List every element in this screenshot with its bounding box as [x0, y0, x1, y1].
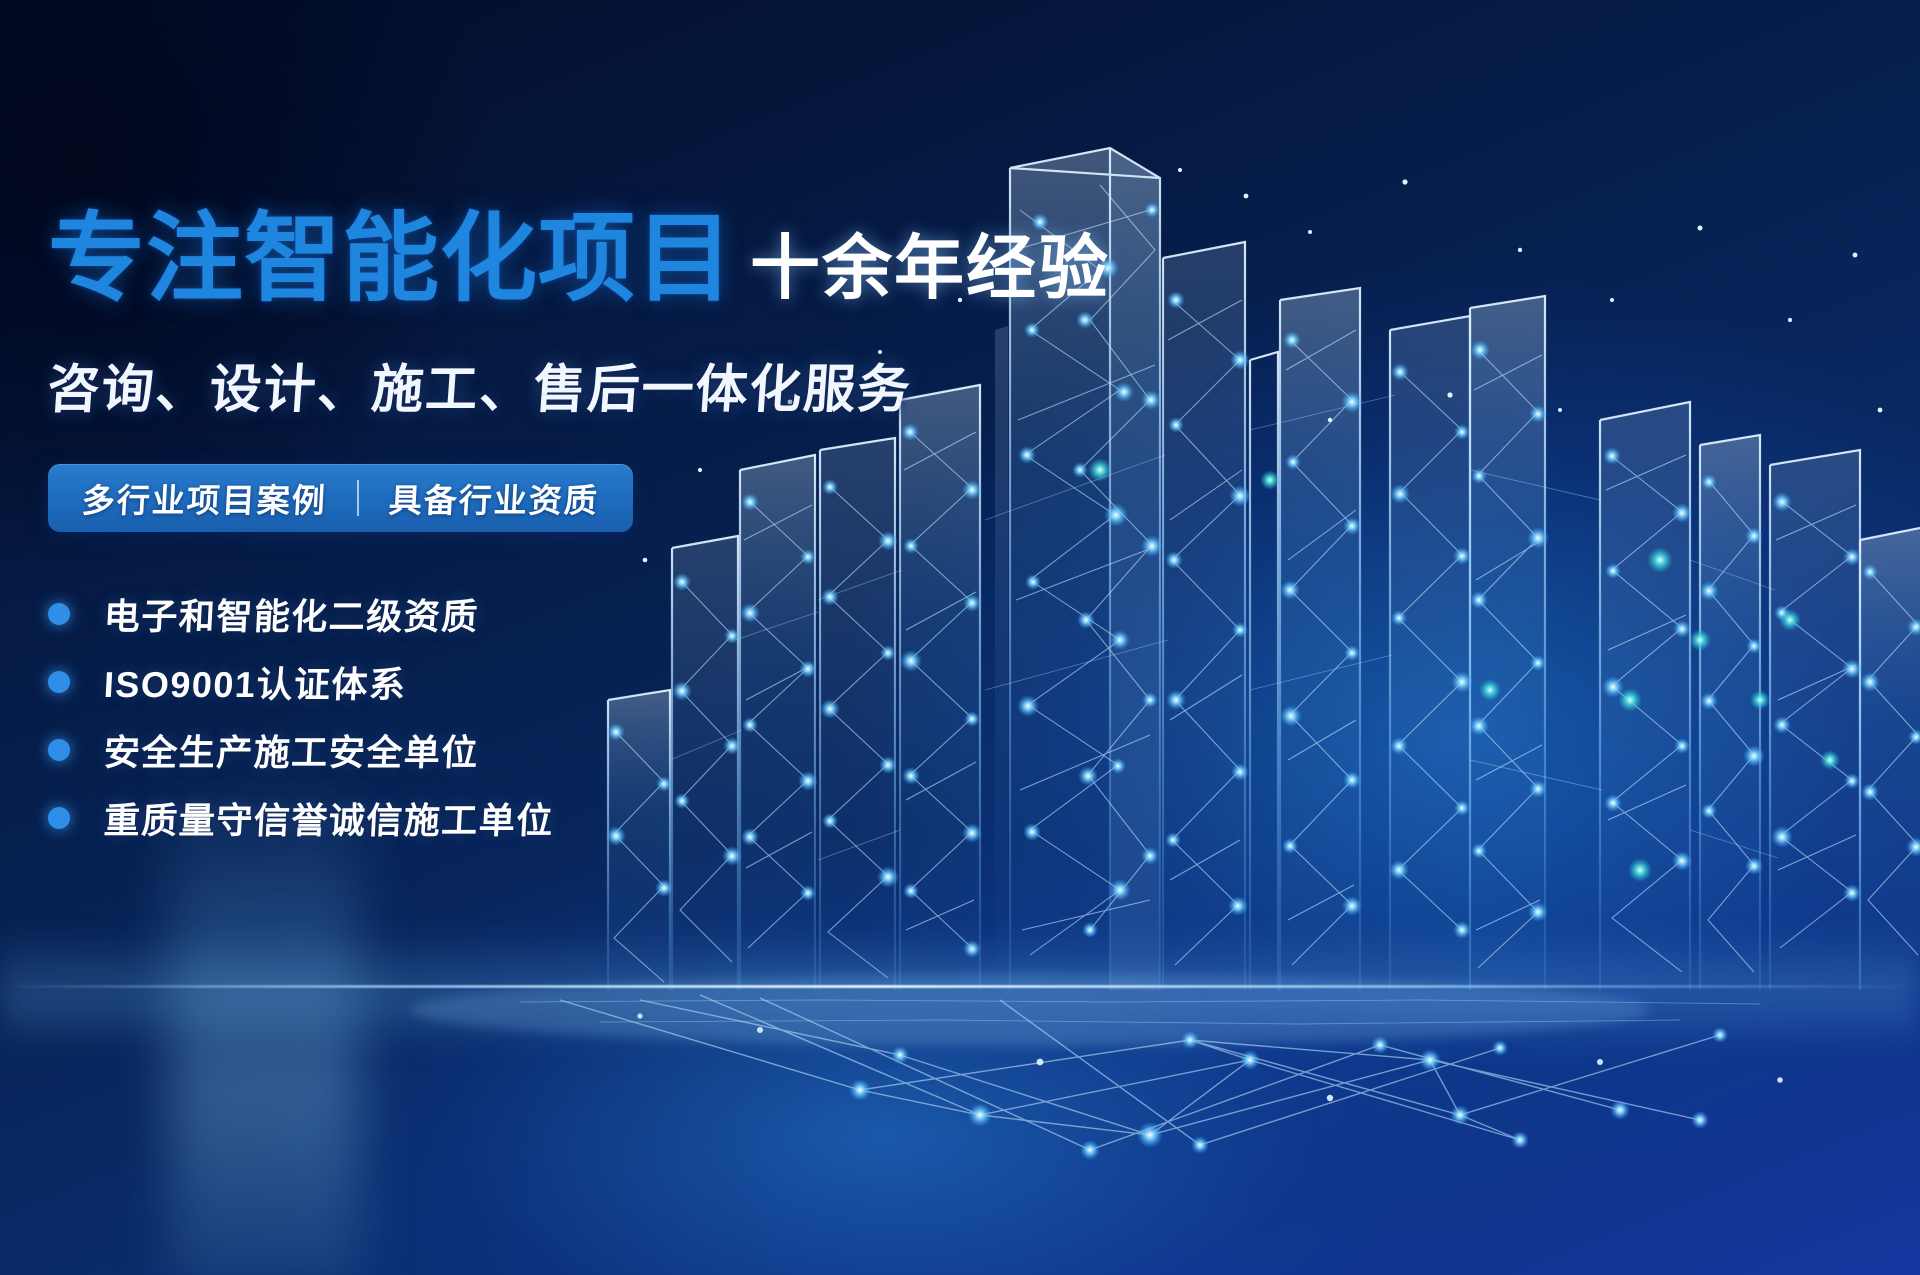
badge-right-label: 具备行业资质 [388, 474, 601, 522]
bullet-dot-icon [48, 603, 70, 625]
bullet-dot-icon [48, 739, 70, 761]
bullet-label: ISO9001认证体系 [103, 656, 408, 708]
badge-left-label: 多行业项目案例 [81, 474, 329, 522]
list-item: 重质量守信誉诚信施工单位 [48, 784, 1058, 852]
bullet-dot-icon [48, 807, 70, 829]
list-item: ISO9001认证体系 [48, 648, 1058, 716]
banner-text-block: 专注智能化项目 十余年经验 咨询、设计、施工、售后一体化服务 多行业项目案例 具… [48, 210, 1058, 852]
badge-separator [357, 480, 359, 516]
headline-sub-text: 十余年经验 [750, 233, 1110, 303]
subtitle-text: 咨询、设计、施工、售后一体化服务 [45, 347, 1060, 422]
bullet-label: 重质量守信誉诚信施工单位 [103, 792, 556, 844]
horizon-glow [0, 930, 1920, 1050]
headline: 专注智能化项目 十余年经验 [48, 210, 1058, 307]
headline-main-text: 专注智能化项目 [48, 210, 734, 307]
bullet-label: 安全生产施工安全单位 [103, 724, 481, 776]
feature-bullet-list: 电子和智能化二级资质 ISO9001认证体系 安全生产施工安全单位 重质量守信誉… [48, 580, 1058, 852]
banner-root: 专注智能化项目 十余年经验 咨询、设计、施工、售后一体化服务 多行业项目案例 具… [0, 0, 1920, 1275]
qualification-badge[interactable]: 多行业项目案例 具备行业资质 [48, 464, 633, 532]
list-item: 电子和智能化二级资质 [48, 580, 1058, 648]
horizon-line [0, 985, 1920, 988]
bullet-dot-icon [48, 671, 70, 693]
bullet-label: 电子和智能化二级资质 [103, 588, 481, 640]
list-item: 安全生产施工安全单位 [48, 716, 1058, 784]
